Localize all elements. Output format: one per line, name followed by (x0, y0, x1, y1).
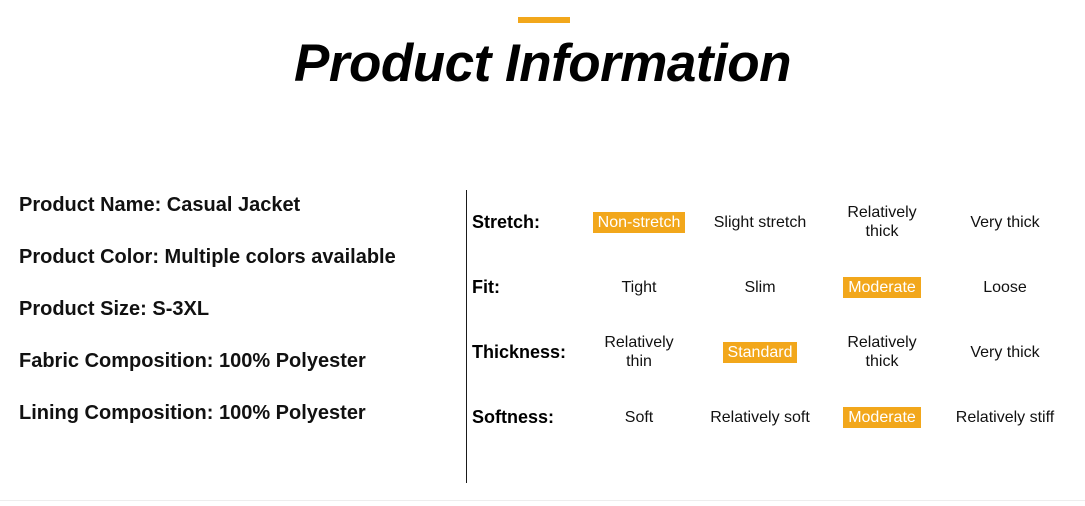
attribute-label-fit: Fit: (472, 265, 500, 309)
spec-line-product-size: Product Size: S-3XL (19, 298, 449, 321)
attribute-label-softness: Softness: (472, 395, 554, 439)
attribute-option-softness-1[interactable]: Soft (586, 395, 692, 439)
attribute-option-fit-3[interactable]: Moderate (829, 265, 935, 309)
attribute-option-softness-3[interactable]: Moderate (829, 395, 935, 439)
attribute-option-thickness-2[interactable]: Standard (704, 330, 816, 374)
attribute-option-stretch-3[interactable]: Relatively thick (829, 200, 935, 244)
attribute-option-thickness-4[interactable]: Very thick (950, 330, 1060, 374)
attribute-row-fit: Fit: Tight Slim Moderate Loose (472, 265, 1072, 330)
attribute-option-thickness-1[interactable]: Relatively thin (586, 330, 692, 374)
attribute-label-stretch: Stretch: (472, 200, 540, 244)
product-specs-list: Product Name: Casual Jacket Product Colo… (19, 194, 449, 425)
attribute-option-stretch-1[interactable]: Non-stretch (586, 200, 692, 244)
attribute-option-fit-2[interactable]: Slim (704, 265, 816, 309)
attribute-option-softness-2[interactable]: Relatively soft (704, 395, 816, 439)
attribute-option-fit-4[interactable]: Loose (950, 265, 1060, 309)
attribute-label-thickness: Thickness: (472, 330, 566, 374)
attribute-row-softness: Softness: Soft Relatively soft Moderate … (472, 395, 1072, 460)
spec-line-fabric-composition: Fabric Composition: 100% Polyester (19, 350, 449, 373)
attribute-option-softness-4[interactable]: Relatively stiff (950, 395, 1060, 439)
attribute-row-stretch: Stretch: Non-stretch Slight stretch Rela… (472, 200, 1072, 265)
spec-line-product-name: Product Name: Casual Jacket (19, 194, 449, 217)
attribute-option-stretch-2[interactable]: Slight stretch (704, 200, 816, 244)
column-divider (466, 190, 467, 483)
attribute-matrix: Stretch: Non-stretch Slight stretch Rela… (472, 200, 1072, 460)
page-title: Product Information (0, 33, 1085, 95)
bottom-rule (0, 500, 1085, 501)
product-information-page: Product Information Product Name: Casual… (0, 0, 1085, 506)
attribute-option-stretch-4[interactable]: Very thick (950, 200, 1060, 244)
spec-line-product-color: Product Color: Multiple colors available (19, 246, 449, 269)
attribute-row-thickness: Thickness: Relatively thin Standard Rela… (472, 330, 1072, 395)
title-accent-bar (518, 17, 570, 23)
attribute-option-fit-1[interactable]: Tight (586, 265, 692, 309)
spec-line-lining-composition: Lining Composition: 100% Polyester (19, 402, 449, 425)
attribute-option-thickness-3[interactable]: Relatively thick (829, 330, 935, 374)
